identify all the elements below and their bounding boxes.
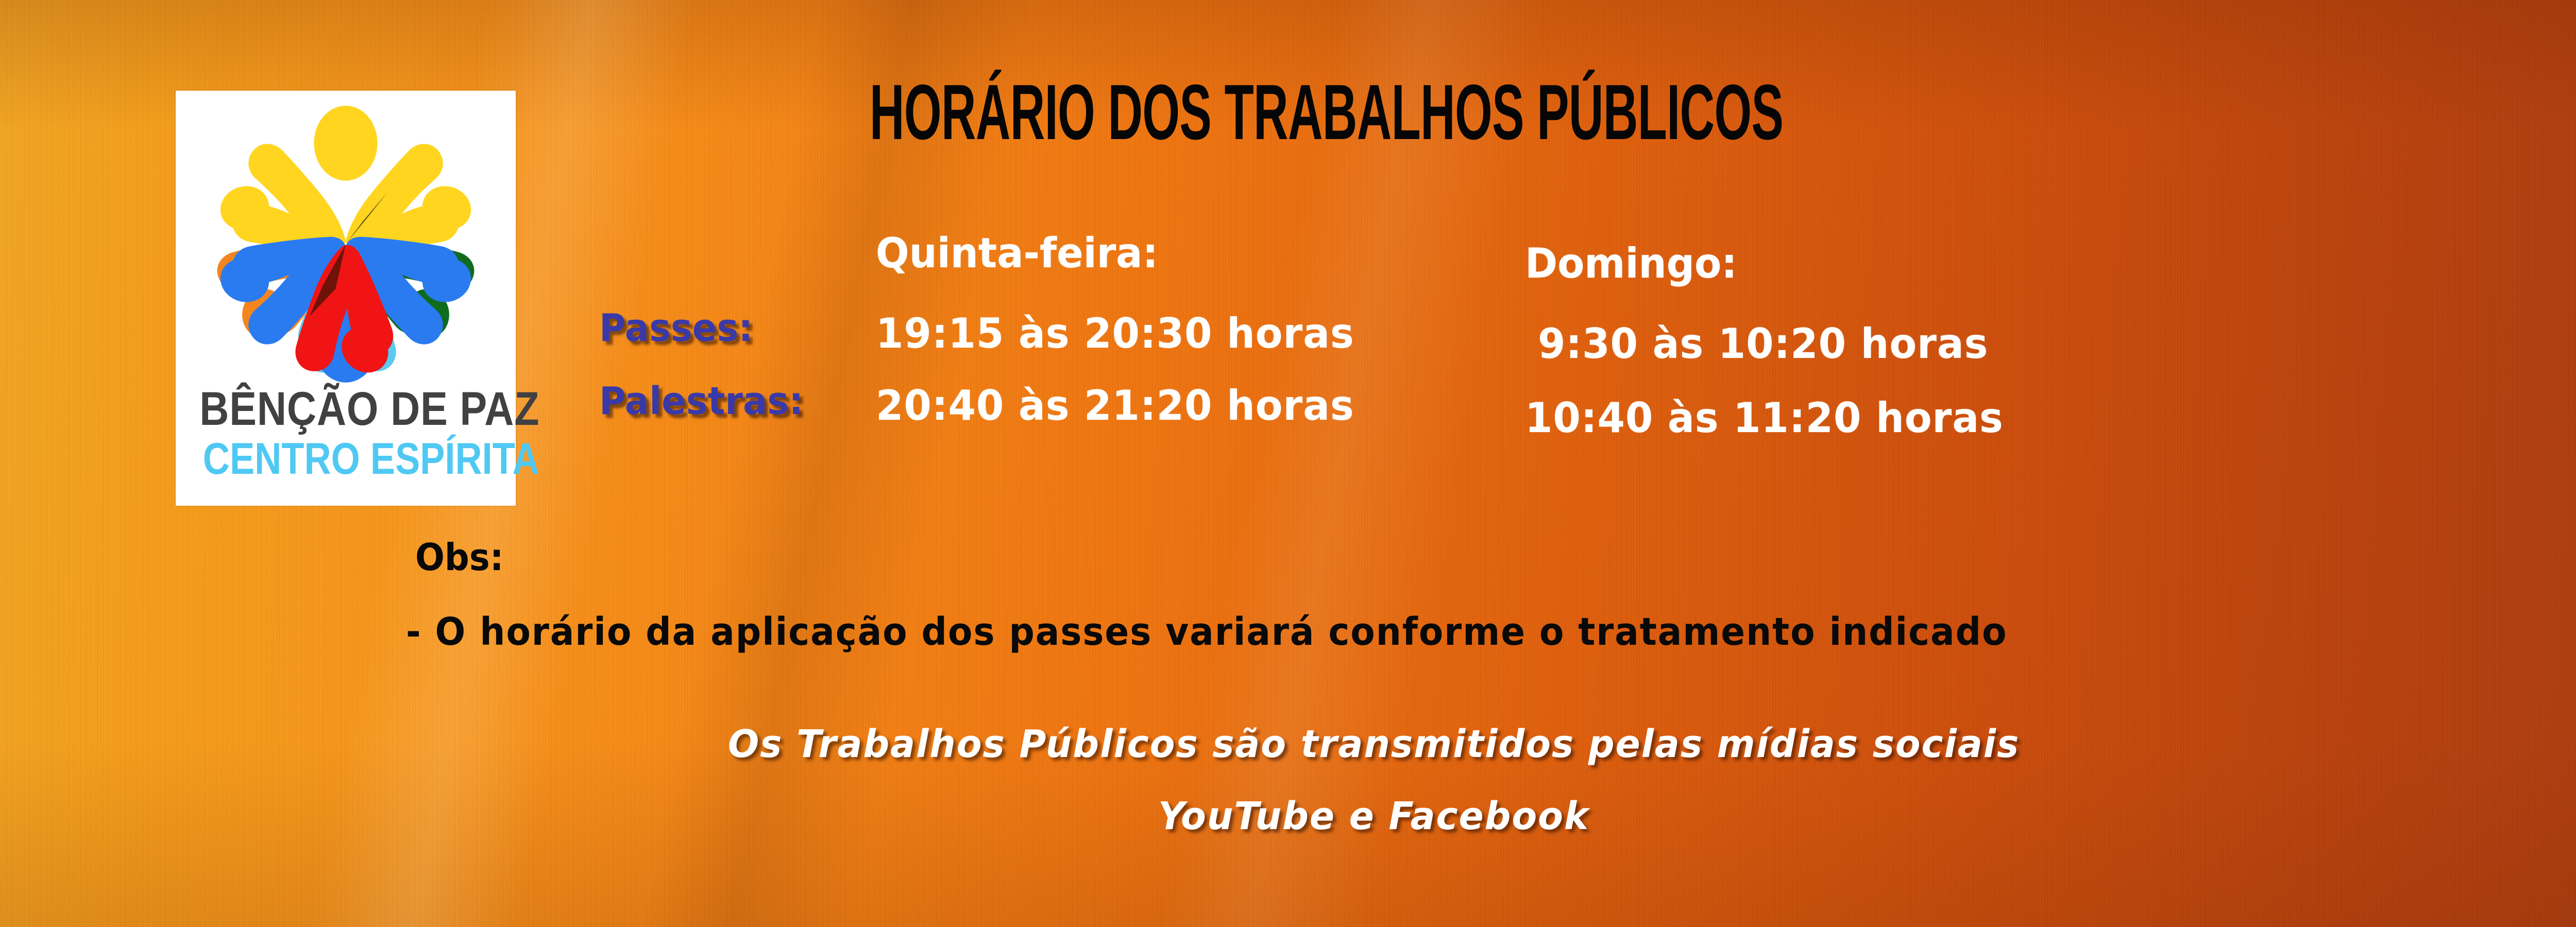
- footer-platforms-line: YouTube e Facebook: [1, 797, 2576, 835]
- footer-broadcast-line: Os Trabalhos Públicos são transmitidos p…: [1, 725, 2576, 763]
- observations-note: - O horário da aplicação dos passes vari…: [406, 613, 2007, 651]
- row-label-passes: Passes:: [599, 309, 753, 347]
- figure-yellow: [215, 106, 477, 251]
- logo-name-secondary: CENTRO ESPÍRITA: [203, 437, 488, 481]
- time-domingo-palestras: 10:40 às 11:20 horas: [1525, 398, 2004, 439]
- time-quinta-passes: 19:15 às 20:30 horas: [876, 313, 1354, 354]
- page-title: HORÁRIO DOS TRABALHOS PÚBLICOS: [870, 73, 1783, 151]
- column-header-quinta-feira: Quinta-feira:: [876, 233, 1158, 274]
- banner-horario-trabalhos-publicos: BÊNÇÃO DE PAZ CENTRO ESPÍRITA HORÁRIO DO…: [0, 0, 2576, 927]
- row-label-palestras: Palestras:: [599, 382, 803, 420]
- observations-label: Obs:: [415, 539, 503, 576]
- time-quinta-palestras: 20:40 às 21:20 horas: [876, 385, 1354, 426]
- column-header-domingo: Domingo:: [1525, 243, 1737, 284]
- logo-pinwheel-icon: [190, 100, 501, 388]
- logo-name-primary: BÊNÇÃO DE PAZ: [199, 385, 492, 433]
- logo-card: BÊNÇÃO DE PAZ CENTRO ESPÍRITA: [176, 91, 516, 506]
- time-domingo-passes: 9:30 às 10:20 horas: [1538, 323, 1988, 365]
